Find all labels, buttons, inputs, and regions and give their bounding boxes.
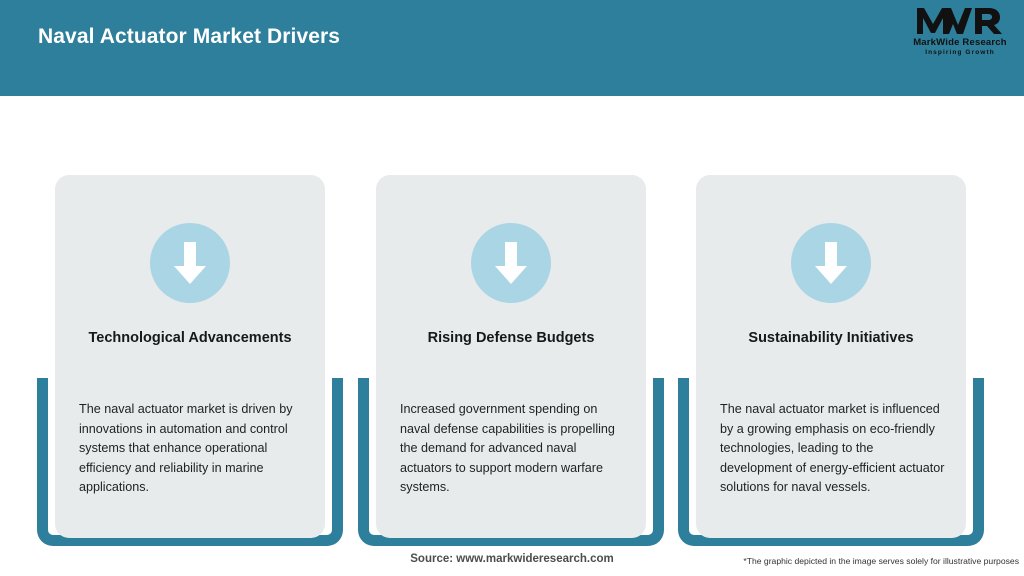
card-body-text: Increased government spending on naval d…: [400, 400, 628, 498]
driver-card-2: Rising Defense Budgets Increased governm…: [358, 96, 664, 556]
card-title: Sustainability Initiatives: [706, 329, 956, 347]
drivers-card-group: Technological Advancements The naval act…: [0, 96, 1024, 576]
logo-company-name: MarkWide Research: [904, 37, 1016, 48]
page-header: Naval Actuator Market Drivers MarkWide R…: [0, 0, 1024, 96]
brand-logo: MarkWide Research Inspiring Growth: [904, 6, 1016, 62]
card-title: Rising Defense Budgets: [386, 329, 636, 347]
logo-tagline: Inspiring Growth: [904, 48, 1016, 57]
mwr-logo-icon: [904, 6, 1016, 36]
card-title: Technological Advancements: [65, 329, 315, 347]
card-panel: Rising Defense Budgets Increased governm…: [376, 175, 646, 538]
driver-card-3: Sustainability Initiatives The naval act…: [678, 96, 984, 556]
card-body-text: The naval actuator market is driven by i…: [79, 400, 307, 498]
arrow-down-icon: [791, 223, 871, 303]
arrow-down-icon: [471, 223, 551, 303]
card-panel: Technological Advancements The naval act…: [55, 175, 325, 538]
driver-card-1: Technological Advancements The naval act…: [37, 96, 343, 556]
arrow-down-icon: [150, 223, 230, 303]
page-title: Naval Actuator Market Drivers: [38, 25, 340, 49]
disclaimer-note: *The graphic depicted in the image serve…: [743, 556, 1019, 566]
card-panel: Sustainability Initiatives The naval act…: [696, 175, 966, 538]
card-body-text: The naval actuator market is influenced …: [720, 400, 948, 498]
